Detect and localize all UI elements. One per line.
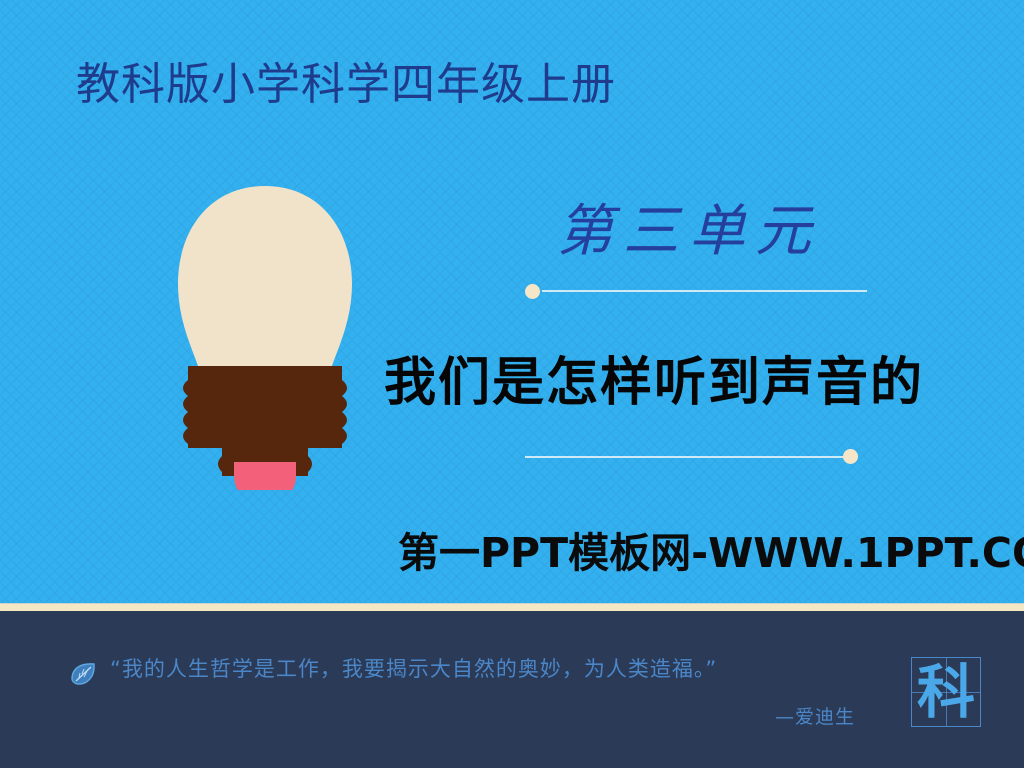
divider-line-bottom bbox=[525, 456, 850, 458]
bulb-glass bbox=[178, 186, 352, 366]
footer-accent-stripe bbox=[0, 603, 1024, 611]
unit-label: 第三单元 bbox=[557, 186, 821, 267]
page-title: 我们是怎样听到声音的 bbox=[384, 340, 924, 415]
seal-stamp: 科 bbox=[911, 657, 981, 727]
leaf-icon bbox=[69, 660, 97, 688]
footer-bar bbox=[0, 611, 1024, 768]
bulb-screw-base bbox=[183, 366, 347, 448]
divider-dot-top bbox=[525, 284, 540, 299]
seal-character: 科 bbox=[912, 658, 980, 726]
bulb-tip bbox=[234, 462, 296, 490]
bulb-svg bbox=[150, 180, 380, 490]
divider-dot-bottom bbox=[843, 449, 858, 464]
presentation-slide: 教科版小学科学四年级上册 第三单元 我们是怎样听到声音的 第一PPT模板网-WW… bbox=[0, 0, 1024, 768]
footer-quote-attribution: —爱迪生 bbox=[775, 702, 855, 729]
course-subtitle: 教科版小学科学四年级上册 bbox=[76, 62, 616, 108]
divider-line-top bbox=[542, 290, 867, 292]
watermark-text: 第一PPT模板网-WWW.1PPT.COM bbox=[398, 519, 1024, 579]
footer-quote: “我的人生哲学是工作，我要揭示大自然的奥妙，为人类造福。” bbox=[110, 653, 717, 683]
light-bulb-illustration bbox=[150, 180, 380, 490]
